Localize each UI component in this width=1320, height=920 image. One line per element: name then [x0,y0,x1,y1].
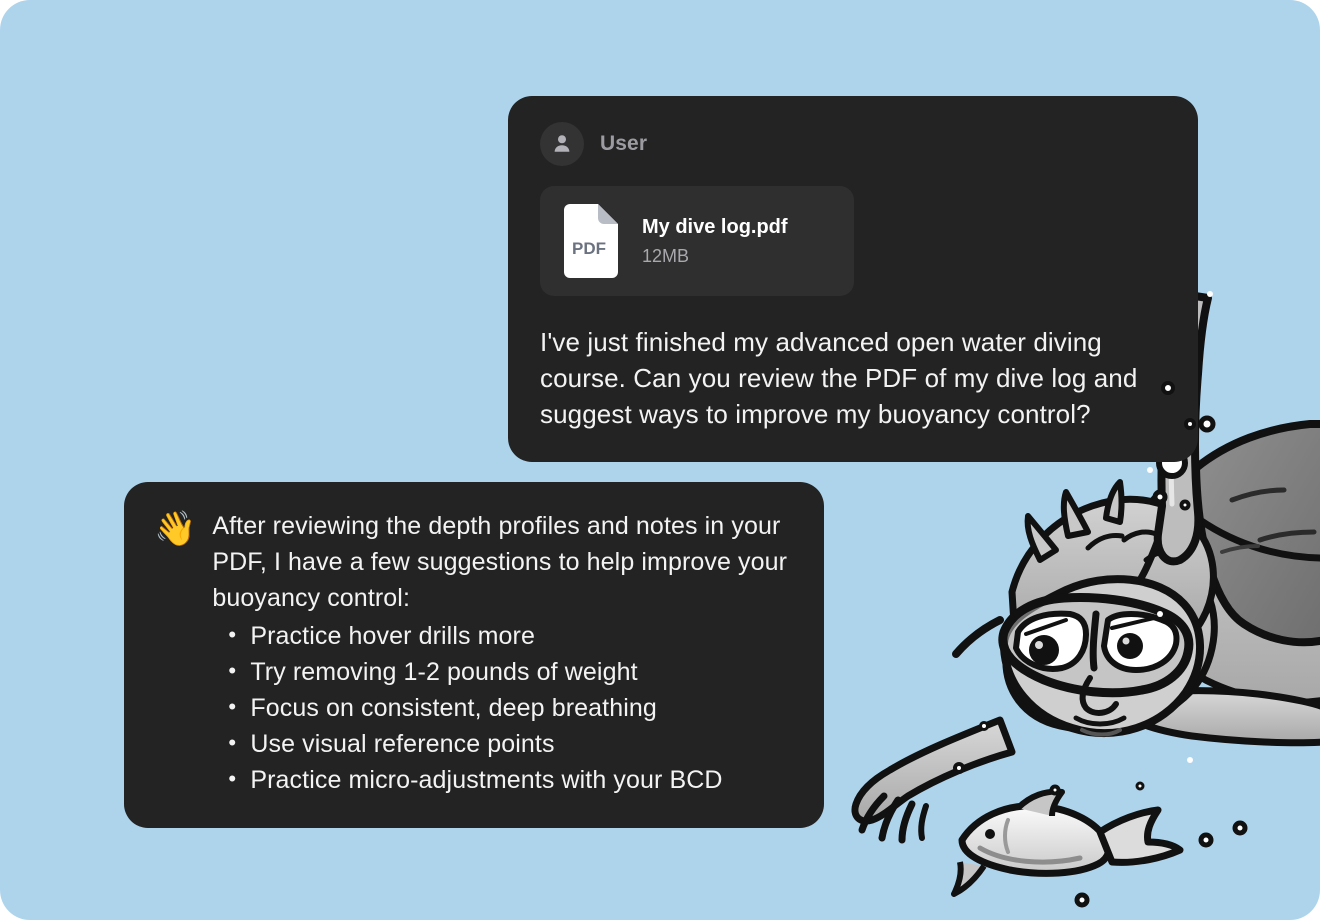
pdf-file-icon-label: PDF [572,239,606,258]
pdf-attachment-card[interactable]: PDF My dive log.pdf 12MB [540,186,854,296]
list-item: Try removing 1-2 pounds of weight [250,654,794,690]
list-item: Focus on consistent, deep breathing [250,690,794,726]
pdf-attachment-meta: My dive log.pdf 12MB [642,216,788,267]
chat-conversation: User PDF My dive log.pdf 12MB I've just … [0,0,1320,920]
person-avatar-icon [540,122,584,166]
assistant-message-content: After reviewing the depth profiles and n… [212,508,794,798]
app-canvas: User PDF My dive log.pdf 12MB I've just … [0,0,1320,920]
assistant-message-body: 👋 After reviewing the depth profiles and… [154,508,794,798]
assistant-message-intro: After reviewing the depth profiles and n… [212,508,794,616]
waving-hand-emoji: 👋 [154,510,196,548]
list-item: Practice micro-adjustments with your BCD [250,762,794,798]
list-item: Use visual reference points [250,726,794,762]
list-item: Practice hover drills more [250,618,794,654]
user-message-bubble: User PDF My dive log.pdf 12MB I've just … [508,96,1198,462]
user-message-text: I've just finished my advanced open wate… [540,324,1162,432]
pdf-attachment-size: 12MB [642,246,788,267]
pdf-attachment-name: My dive log.pdf [642,216,788,239]
assistant-suggestions-list: Practice hover drills more Try removing … [212,618,794,798]
user-message-author: User [600,132,647,156]
assistant-message-bubble: 👋 After reviewing the depth profiles and… [124,482,824,828]
pdf-file-icon: PDF [560,204,622,278]
user-message-header: User [540,122,1162,166]
